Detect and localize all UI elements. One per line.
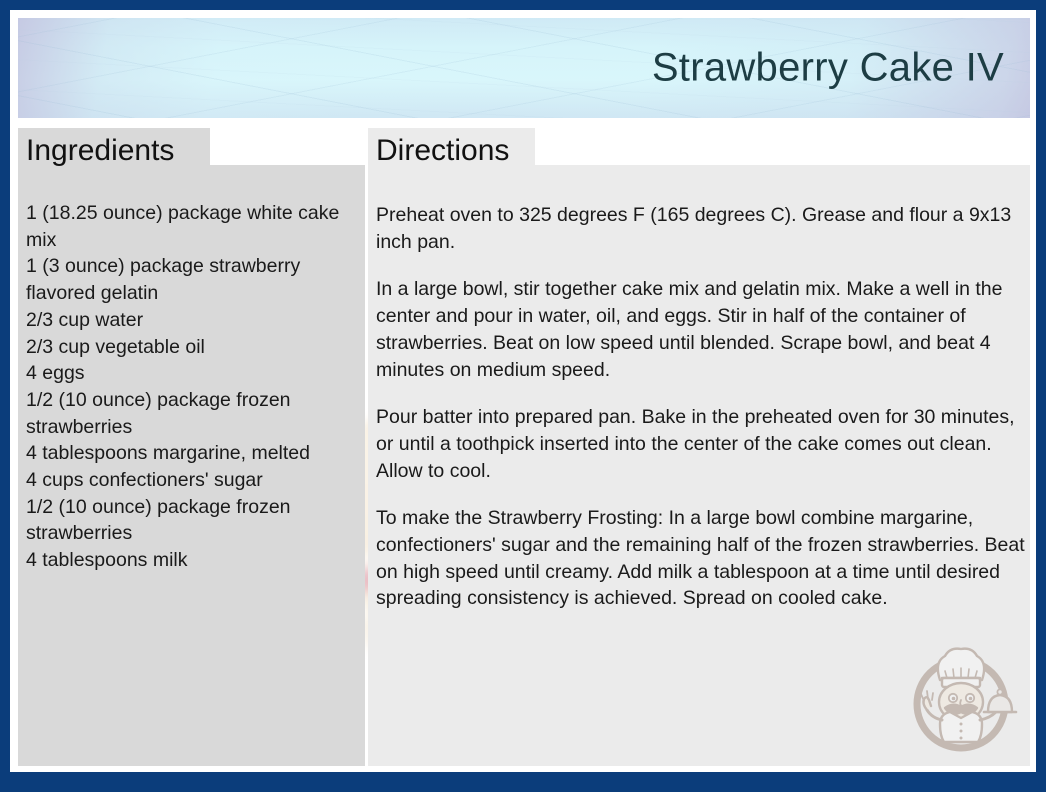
- recipe-card: Strawberry Cake IV: [0, 0, 1046, 792]
- ingredient-item: 4 cups confectioners' sugar: [26, 467, 356, 494]
- direction-paragraph: To make the Strawberry Frosting: In a la…: [376, 505, 1026, 612]
- ingredient-item: 4 tablespoons margarine, melted: [26, 440, 356, 467]
- direction-paragraph: Pour batter into prepared pan. Bake in t…: [376, 404, 1026, 484]
- ingredient-item: 4 eggs: [26, 360, 356, 387]
- ingredients-heading: Ingredients: [26, 134, 174, 168]
- page-title: Strawberry Cake IV: [652, 46, 1004, 91]
- directions-heading: Directions: [376, 134, 509, 168]
- ingredient-item: 1/2 (10 ounce) package frozen strawberri…: [26, 387, 356, 440]
- directions-body: Preheat oven to 325 degrees F (165 degre…: [376, 202, 1026, 612]
- ingredient-item: 4 tablespoons milk: [26, 547, 356, 574]
- ingredient-item: 2/3 cup vegetable oil: [26, 334, 356, 361]
- ingredient-item: 2/3 cup water: [26, 307, 356, 334]
- direction-paragraph: In a large bowl, stir together cake mix …: [376, 276, 1026, 383]
- ingredient-item: 1 (18.25 ounce) package white cake mix: [26, 200, 356, 253]
- ingredients-list: 1 (18.25 ounce) package white cake mix 1…: [26, 200, 356, 574]
- page-sheet: Strawberry Cake IV: [10, 10, 1036, 772]
- header-banner: Strawberry Cake IV: [18, 18, 1030, 118]
- ingredient-item: 1 (3 ounce) package strawberry flavored …: [26, 253, 356, 306]
- ingredient-item: 1/2 (10 ounce) package frozen strawberri…: [26, 494, 356, 547]
- direction-paragraph: Preheat oven to 325 degrees F (165 degre…: [376, 202, 1026, 255]
